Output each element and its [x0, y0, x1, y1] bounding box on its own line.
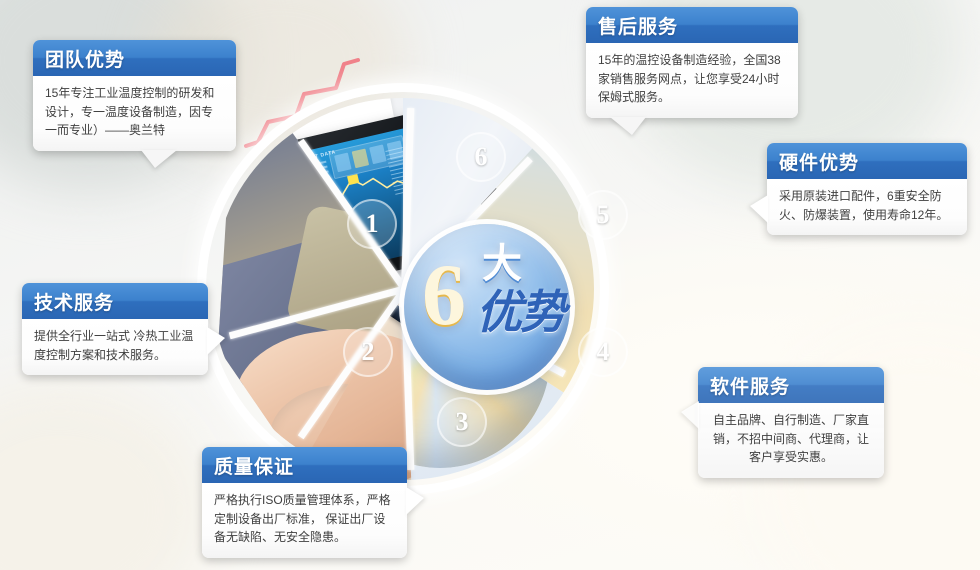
callout-card-hardware[interactable]: 硬件优势 采用原装进口配件，6重安全防火、防爆装置，使用寿命12年。 — [767, 143, 967, 235]
infographic-canvas: STOCK MARKET DATA INTC 440.96 — [0, 0, 980, 570]
speech-tail — [406, 487, 424, 515]
card-title-team: 团队优势 — [33, 40, 236, 76]
speech-tail — [610, 117, 646, 135]
card-title-technical: 技术服务 — [22, 283, 208, 319]
speech-tail — [207, 327, 225, 355]
center-badge[interactable]: 6 大 优势 — [404, 224, 570, 390]
center-big-word: 大 — [482, 244, 522, 284]
bg-blob-4 — [0, 380, 210, 570]
segment-badge-3[interactable]: 3 — [437, 397, 487, 447]
card-title-hardware: 硬件优势 — [767, 143, 967, 179]
card-body-team: 15年专注工业温度控制的研发和设计，专一温度设备制造，因专一而专业）——奥兰特 — [33, 76, 236, 151]
speech-tail — [681, 401, 699, 429]
speech-tail — [141, 150, 177, 168]
card-body-software: 自主品牌、自行制造、厂家直销，不招中间商、代理商，让客户享受实惠。 — [698, 403, 884, 478]
card-body-technical: 提供全行业一站式 冷热工业温度控制方案和技术服务。 — [22, 319, 208, 375]
segment-badge-4[interactable]: 4 — [578, 327, 628, 377]
card-body-after-sales: 15年的温控设备制造经验，全国38家销售服务网点，让您享受24小时保姆式服务。 — [586, 43, 798, 118]
callout-card-software[interactable]: 软件服务 自主品牌、自行制造、厂家直销，不招中间商、代理商，让客户享受实惠。 — [698, 367, 884, 478]
callout-card-technical[interactable]: 技术服务 提供全行业一站式 冷热工业温度控制方案和技术服务。 — [22, 283, 208, 375]
callout-card-after-sales[interactable]: 售后服务 15年的温控设备制造经验，全国38家销售服务网点，让您享受24小时保姆… — [586, 7, 798, 118]
segment-badge-6[interactable]: 6 — [456, 132, 506, 182]
card-title-after-sales: 售后服务 — [586, 7, 798, 43]
card-body-quality: 严格执行ISO质量管理体系，严格定制设备出厂标准， 保证出厂设备无缺陷、无安全隐… — [202, 483, 407, 558]
card-title-quality: 质量保证 — [202, 447, 407, 483]
center-script-word: 优势 — [476, 290, 564, 336]
speech-tail — [750, 195, 768, 223]
segment-badge-1[interactable]: 1 — [347, 199, 397, 249]
card-title-software: 软件服务 — [698, 367, 884, 403]
card-body-hardware: 采用原装进口配件，6重安全防火、防爆装置，使用寿命12年。 — [767, 179, 967, 235]
center-number: 6 — [422, 252, 466, 340]
callout-card-quality[interactable]: 质量保证 严格执行ISO质量管理体系，严格定制设备出厂标准， 保证出厂设备无缺陷… — [202, 447, 407, 558]
segment-badge-2[interactable]: 2 — [343, 327, 393, 377]
callout-card-team[interactable]: 团队优势 15年专注工业温度控制的研发和设计，专一温度设备制造，因专一而专业）—… — [33, 40, 236, 151]
segment-badge-5[interactable]: 5 — [578, 190, 628, 240]
